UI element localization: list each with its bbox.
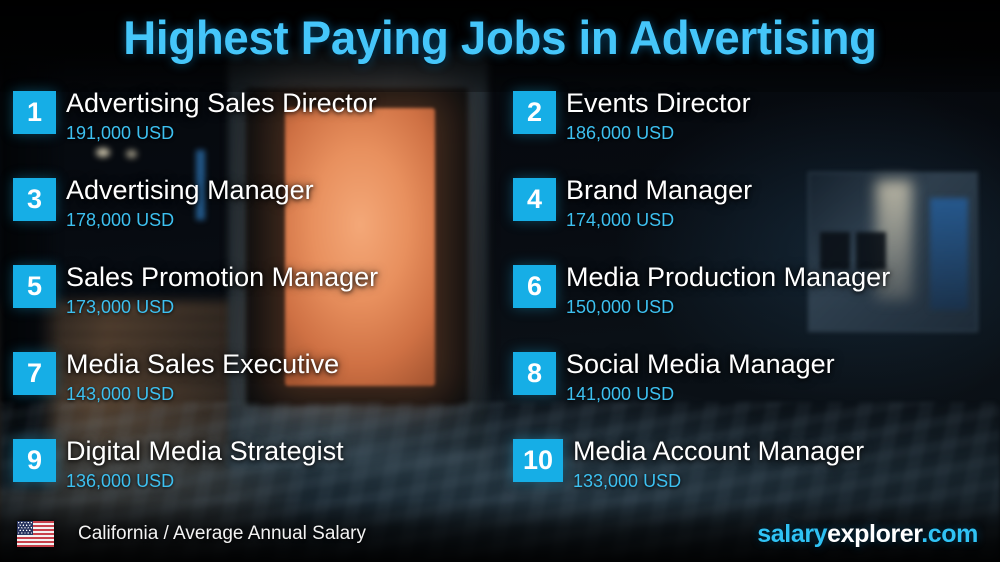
page-title: Highest Paying Jobs in Advertising [15,10,985,66]
brand-logo[interactable]: salaryexplorer.com [757,520,978,548]
job-salary: 186,000 USD [566,121,751,145]
job-entry-text: Media Sales Executive 143,000 USD [66,347,339,406]
job-entry-text: Events Director 186,000 USD [566,86,751,145]
job-entry-text: Brand Manager 174,000 USD [566,173,752,232]
job-salary: 136,000 USD [66,469,344,493]
footer-caption: California / Average Annual Salary [78,522,366,546]
us-flag-icon [17,521,54,547]
job-salary: 174,000 USD [566,208,752,232]
infographic-poster: Highest Paying Jobs in Advertising 1 Adv… [0,0,1000,562]
brand-part-salary: salary [757,520,827,548]
job-row: 1 Advertising Sales Director 191,000 USD… [0,86,1000,173]
rank-badge: 1 [13,91,56,134]
job-title: Advertising Sales Director [66,86,377,120]
job-entry-3[interactable]: 3 Advertising Manager 178,000 USD [13,173,503,260]
job-salary: 141,000 USD [566,382,835,406]
job-entry-text: Social Media Manager 141,000 USD [566,347,835,406]
job-row: 7 Media Sales Executive 143,000 USD 8 So… [0,347,1000,434]
rank-badge: 4 [513,178,556,221]
content-layer: Highest Paying Jobs in Advertising 1 Adv… [0,0,1000,562]
job-salary: 191,000 USD [66,121,377,145]
job-title: Sales Promotion Manager [66,260,378,294]
job-row: 3 Advertising Manager 178,000 USD 4 Bran… [0,173,1000,260]
job-salary: 173,000 USD [66,295,378,319]
job-entry-5[interactable]: 5 Sales Promotion Manager 173,000 USD [13,260,503,347]
job-entry-text: Advertising Sales Director 191,000 USD [66,86,377,145]
job-title: Media Account Manager [573,434,864,468]
job-title: Media Sales Executive [66,347,339,381]
job-entry-6[interactable]: 6 Media Production Manager 150,000 USD [513,260,1000,347]
rank-badge: 5 [13,265,56,308]
job-entry-7[interactable]: 7 Media Sales Executive 143,000 USD [13,347,503,434]
flag-stars [17,521,33,535]
job-entry-text: Digital Media Strategist 136,000 USD [66,434,344,493]
job-title: Events Director [566,86,751,120]
rank-badge: 8 [513,352,556,395]
job-title: Media Production Manager [566,260,890,294]
job-title: Advertising Manager [66,173,314,207]
footer: California / Average Annual Salary salar… [0,504,1000,562]
rank-badge: 10 [513,439,563,482]
job-title: Social Media Manager [566,347,835,381]
job-salary: 143,000 USD [66,382,339,406]
job-entry-4[interactable]: 4 Brand Manager 174,000 USD [513,173,1000,260]
job-entry-2[interactable]: 2 Events Director 186,000 USD [513,86,1000,173]
rank-badge: 3 [13,178,56,221]
job-title: Brand Manager [566,173,752,207]
job-salary: 133,000 USD [573,469,864,493]
job-list: 1 Advertising Sales Director 191,000 USD… [0,86,1000,521]
brand-part-explorer: explorer [827,520,921,548]
brand-part-tld: .com [921,520,978,548]
job-salary: 150,000 USD [566,295,890,319]
rank-badge: 7 [13,352,56,395]
job-entry-text: Media Production Manager 150,000 USD [566,260,890,319]
rank-badge: 9 [13,439,56,482]
job-entry-1[interactable]: 1 Advertising Sales Director 191,000 USD [13,86,503,173]
job-entry-text: Advertising Manager 178,000 USD [66,173,314,232]
rank-badge: 6 [513,265,556,308]
job-entry-8[interactable]: 8 Social Media Manager 141,000 USD [513,347,1000,434]
rank-badge: 2 [513,91,556,134]
job-title: Digital Media Strategist [66,434,344,468]
job-salary: 178,000 USD [66,208,314,232]
job-entry-text: Sales Promotion Manager 173,000 USD [66,260,378,319]
job-row: 5 Sales Promotion Manager 173,000 USD 6 … [0,260,1000,347]
job-entry-text: Media Account Manager 133,000 USD [573,434,864,493]
